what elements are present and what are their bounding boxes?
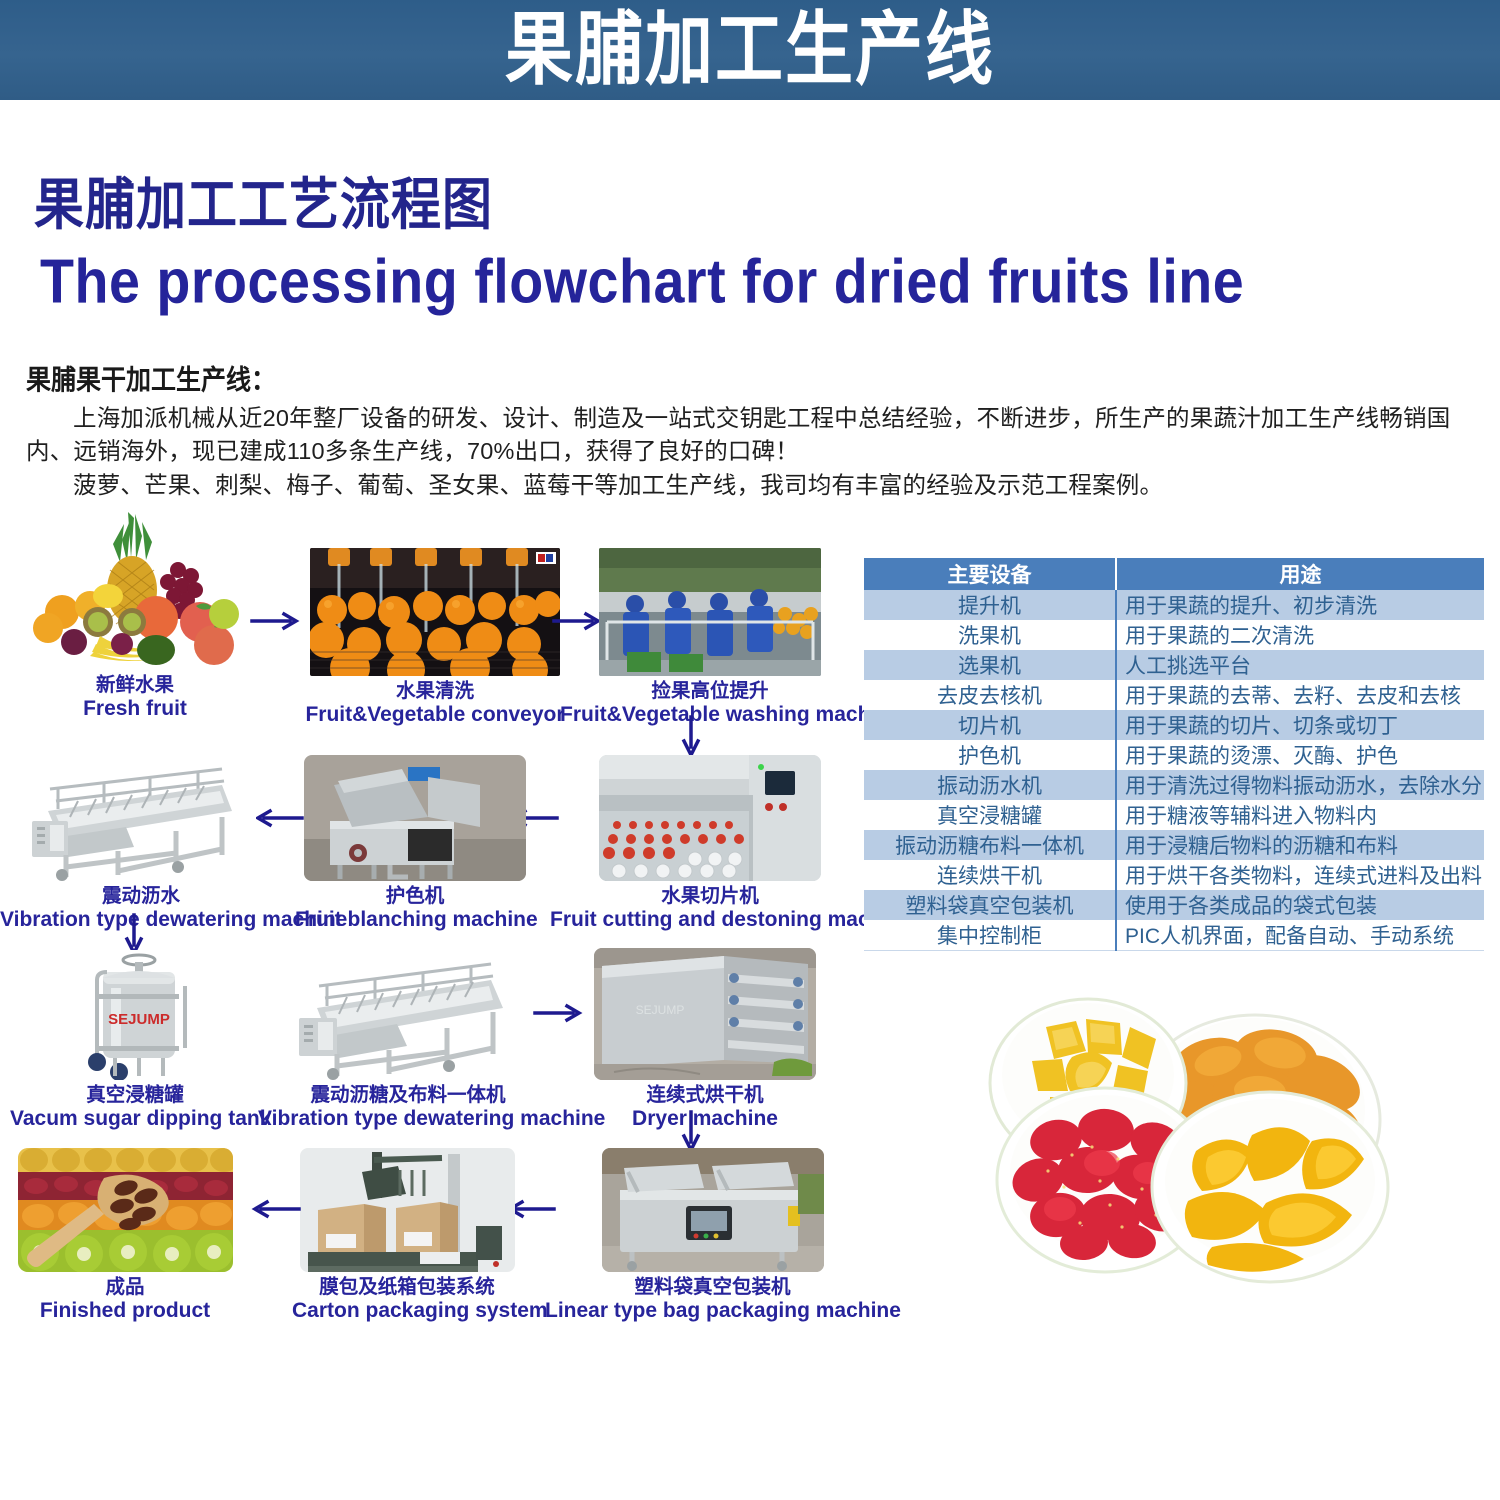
equipment-spec-table: 主要设备 用途 提升机用于果蔬的提升、初步清洗 洗果机用于果蔬的二次清洗 选果机… xyxy=(864,558,1484,951)
sugar-tank-photo: SEJUMP xyxy=(45,950,225,1080)
equipment-usage: 使用于各类成品的袋式包装 xyxy=(1116,890,1484,920)
table-row: 塑料袋真空包装机使用于各类成品的袋式包装 xyxy=(864,890,1484,920)
table-row: 选果机人工挑选平台 xyxy=(864,650,1484,680)
equipment-name: 振动沥糖布料一体机 xyxy=(864,830,1116,860)
table-header-usage: 用途 xyxy=(1116,558,1484,590)
arrow-left-4 xyxy=(245,1198,301,1220)
table-row: 去皮去核机用于果蔬的去蒂、去籽、去皮和去核 xyxy=(864,680,1484,710)
flow-node-label-cn: 真空浸糖罐 xyxy=(10,1084,260,1106)
flow-node-bag-packaging: 塑料袋真空包装机 Linear type bag packaging machi… xyxy=(545,1148,880,1324)
flow-node-label-cn: 水果清洗 xyxy=(300,680,570,702)
flow-node-label-en: Vibration type dewatering machine xyxy=(258,1106,558,1131)
flow-node-conveyor: 水果清洗 Fruit&Vegetable conveyor xyxy=(300,548,570,728)
flow-node-fresh-fruit: 新鲜水果 Fresh fruit xyxy=(20,510,250,722)
flow-node-label-en: Finished product xyxy=(10,1298,240,1323)
intro-title: 果脯果干加工生产线： xyxy=(26,358,1476,398)
table-row: 提升机用于果蔬的提升、初步清洗 xyxy=(864,590,1484,620)
svg-text:SEJUMP: SEJUMP xyxy=(636,1003,685,1017)
flow-node-label-en: Carton packaging system xyxy=(292,1298,522,1323)
equipment-name: 真空浸糖罐 xyxy=(864,800,1116,830)
table-row: 集中控制柜PIC人机界面，配备自动、手动系统 xyxy=(864,920,1484,951)
table-row: 振动沥糖布料一体机用于浸糖后物料的沥糖和布料 xyxy=(864,830,1484,860)
flow-node-carton-packaging: 膜包及纸箱包装系统 Carton packaging system xyxy=(292,1148,522,1324)
flow-node-label-en: Fresh fruit xyxy=(20,696,250,721)
intro-paragraph-2: 菠萝、芒果、刺梨、梅子、葡萄、圣女果、蓝莓干等加工生产线，我司均有丰富的经验及示… xyxy=(26,469,1476,502)
flow-node-label-cn: 膜包及纸箱包装系统 xyxy=(292,1276,522,1298)
equipment-name: 护色机 xyxy=(864,740,1116,770)
page-title-cn: 果脯加工工艺流程图 xyxy=(34,160,493,241)
flow-node-label-en: Linear type bag packaging machine xyxy=(545,1298,880,1323)
flow-node-label-cn: 水果切片机 xyxy=(550,885,870,907)
table-row: 护色机用于果蔬的烫漂、灭酶、护色 xyxy=(864,740,1484,770)
equipment-usage: 用于果蔬的去蒂、去籽、去皮和去核 xyxy=(1116,680,1484,710)
equipment-usage: 用于浸糖后物料的沥糖和布料 xyxy=(1116,830,1484,860)
flow-node-label-cn: 震动沥糖及布料一体机 xyxy=(258,1084,558,1106)
table-row: 连续烘干机用于烘干各类物料，连续式进料及出料 xyxy=(864,860,1484,890)
blanching-machine-photo xyxy=(304,755,526,881)
flow-node-label-cn: 成品 xyxy=(10,1276,240,1298)
page-banner: 果脯加工生产线 xyxy=(0,0,1500,100)
flow-node-label-en: Fruit&Vegetable washing machine xyxy=(560,702,860,727)
dewatering-machine-2-photo xyxy=(291,948,526,1080)
intro-paragraph-1: 上海加派机械从近20年整厂设备的研发、设计、制造及一站式交钥匙工程中总结经验，不… xyxy=(26,402,1476,469)
table-header-row: 主要设备 用途 xyxy=(864,558,1484,590)
equipment-usage: 用于果蔬的切片、切条或切丁 xyxy=(1116,710,1484,740)
equipment-usage: PIC人机界面，配备自动、手动系统 xyxy=(1116,920,1484,951)
intro-block: 果脯果干加工生产线： 上海加派机械从近20年整厂设备的研发、设计、制造及一站式交… xyxy=(26,358,1476,502)
banner-title: 果脯加工生产线 xyxy=(505,10,995,90)
flow-node-cutting: 水果切片机 Fruit cutting and destoning machin… xyxy=(550,755,870,933)
flow-node-dewatering-2: 震动沥糖及布料一体机 Vibration type dewatering mac… xyxy=(258,948,558,1132)
table-header-equipment: 主要设备 xyxy=(864,558,1116,590)
arrow-right-1 xyxy=(250,610,306,632)
flow-node-label-cn: 连续式烘干机 xyxy=(580,1084,830,1106)
equipment-name: 集中控制柜 xyxy=(864,920,1116,951)
flow-node-label-cn: 塑料袋真空包装机 xyxy=(545,1276,880,1298)
dryer-machine-photo: SEJUMP xyxy=(594,948,816,1080)
flow-node-label-cn: 新鲜水果 xyxy=(20,674,250,696)
flow-node-label-en: Vacum sugar dipping tank xyxy=(10,1106,260,1131)
equipment-usage: 用于果蔬的二次清洗 xyxy=(1116,620,1484,650)
bag-packaging-machine-photo xyxy=(602,1148,824,1272)
table-row: 切片机用于果蔬的切片、切条或切丁 xyxy=(864,710,1484,740)
equipment-usage: 用于清洗过得物料振动沥水，去除水分 xyxy=(1116,770,1484,800)
equipment-name: 洗果机 xyxy=(864,620,1116,650)
fresh-fruit-photo xyxy=(28,510,243,670)
washing-machine-photo xyxy=(599,548,821,676)
conveyor-photo xyxy=(310,548,560,676)
page-title-en: The processing flowchart for dried fruit… xyxy=(40,246,1244,317)
equipment-usage: 人工挑选平台 xyxy=(1116,650,1484,680)
carton-packaging-photo xyxy=(300,1148,515,1272)
dried-fruit-product-photo xyxy=(960,965,1390,1285)
flow-node-label-en: Dryer machine xyxy=(580,1106,830,1131)
cutting-machine-photo xyxy=(599,755,821,881)
flow-node-blanching: 护色机 Fruit blanching machine xyxy=(295,755,535,933)
flow-node-label-cn: 捡果高位提升 xyxy=(560,680,860,702)
equipment-name: 去皮去核机 xyxy=(864,680,1116,710)
equipment-usage: 用于糖液等辅料进入物料内 xyxy=(1116,800,1484,830)
flow-node-washing-machine: 捡果高位提升 Fruit&Vegetable washing machine xyxy=(560,548,860,728)
flow-node-label-cn: 护色机 xyxy=(295,885,535,907)
equipment-name: 振动沥水机 xyxy=(864,770,1116,800)
flow-node-label-en: Fruit&Vegetable conveyor xyxy=(300,702,570,727)
flow-node-label-cn: 震动沥水 xyxy=(0,885,282,907)
equipment-usage: 用于果蔬的提升、初步清洗 xyxy=(1116,590,1484,620)
svg-text:SEJUMP: SEJUMP xyxy=(108,1011,170,1028)
equipment-name: 提升机 xyxy=(864,590,1116,620)
flow-node-dewatering-1: 震动沥水 Vibration type dewatering machine xyxy=(0,755,282,933)
flow-node-finished-product: 成品 Finished product xyxy=(10,1148,240,1324)
equipment-usage: 用于果蔬的烫漂、灭酶、护色 xyxy=(1116,740,1484,770)
finished-product-photo xyxy=(18,1148,233,1272)
dewatering-machine-1-photo xyxy=(26,755,256,881)
table-row: 振动沥水机用于清洗过得物料振动沥水，去除水分 xyxy=(864,770,1484,800)
table-row: 真空浸糖罐用于糖液等辅料进入物料内 xyxy=(864,800,1484,830)
equipment-name: 选果机 xyxy=(864,650,1116,680)
flow-node-sugar-tank: SEJUMP 真空浸糖罐 Vacum sugar dipping tank xyxy=(10,950,260,1132)
equipment-name: 塑料袋真空包装机 xyxy=(864,890,1116,920)
flow-node-dryer: SEJUMP 连续式烘干机 Dryer machine xyxy=(580,948,830,1132)
equipment-name: 切片机 xyxy=(864,710,1116,740)
table-row: 洗果机用于果蔬的二次清洗 xyxy=(864,620,1484,650)
equipment-usage: 用于烘干各类物料，连续式进料及出料 xyxy=(1116,860,1484,890)
equipment-name: 连续烘干机 xyxy=(864,860,1116,890)
flow-node-label-en: Fruit cutting and destoning machine xyxy=(550,907,870,932)
process-flowchart: 新鲜水果 Fresh fruit xyxy=(0,510,880,1310)
